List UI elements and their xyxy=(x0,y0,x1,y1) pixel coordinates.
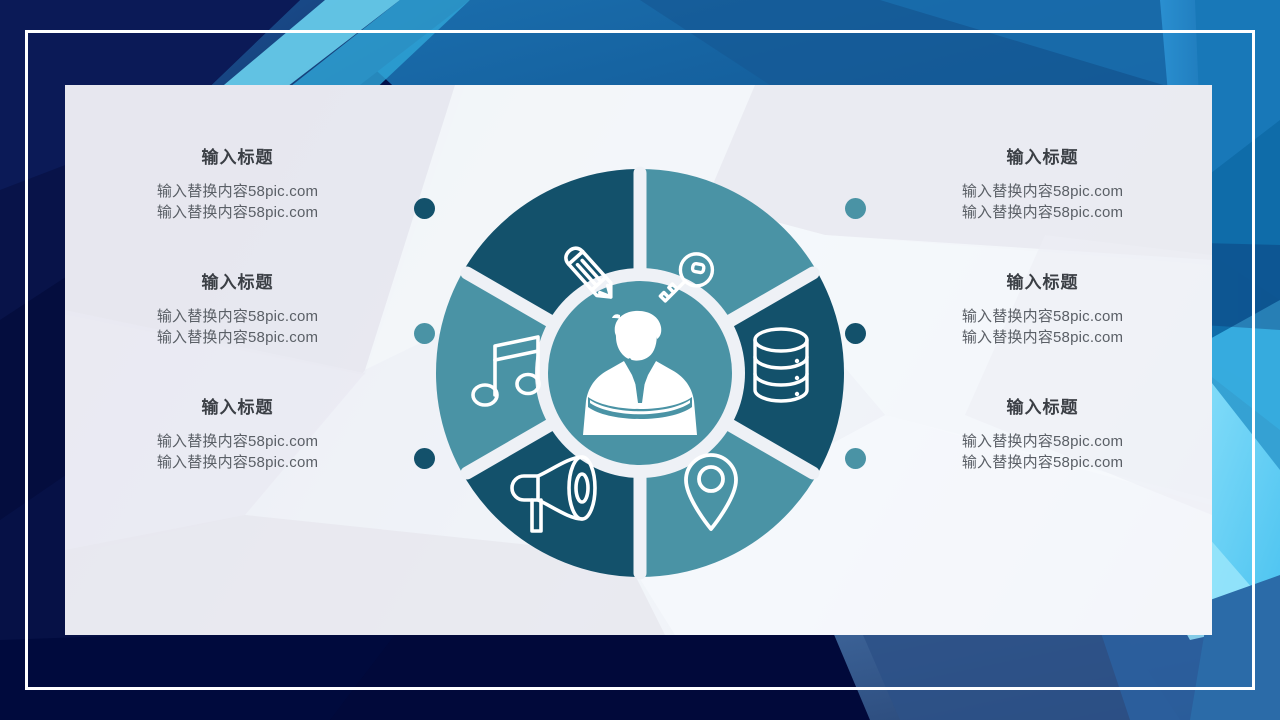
bullet-dot xyxy=(414,198,435,219)
bullet-dot xyxy=(845,198,866,219)
bullet-dot xyxy=(414,448,435,469)
item-body-line: 输入替换内容58pic.com xyxy=(65,431,410,452)
bullet-dot xyxy=(845,448,866,469)
item-title: 输入标题 xyxy=(870,148,1215,168)
item-body: 输入替换内容58pic.com 输入替换内容58pic.com xyxy=(65,181,410,223)
item-body-line: 输入替换内容58pic.com xyxy=(65,327,410,348)
item-body-line: 输入替换内容58pic.com xyxy=(870,327,1215,348)
segmented-wheel-diagram xyxy=(432,165,848,581)
item-body: 输入替换内容58pic.com 输入替换内容58pic.com xyxy=(870,431,1215,473)
list-item[interactable]: 输入标题 输入替换内容58pic.com 输入替换内容58pic.com xyxy=(870,273,1215,398)
item-body: 输入替换内容58pic.com 输入替换内容58pic.com xyxy=(65,306,410,348)
item-body-line: 输入替换内容58pic.com xyxy=(870,181,1215,202)
list-item[interactable]: 输入标题 输入替换内容58pic.com 输入替换内容58pic.com xyxy=(65,148,410,273)
item-title: 输入标题 xyxy=(870,398,1215,418)
item-body-line: 输入替换内容58pic.com xyxy=(870,452,1215,473)
bullet-dot xyxy=(845,323,866,344)
right-items-column: 输入标题 输入替换内容58pic.com 输入替换内容58pic.com 输入标… xyxy=(870,148,1215,523)
item-title: 输入标题 xyxy=(65,273,410,293)
item-body-line: 输入替换内容58pic.com xyxy=(65,452,410,473)
left-items-column: 输入标题 输入替换内容58pic.com 输入替换内容58pic.com 输入标… xyxy=(65,148,410,523)
item-title: 输入标题 xyxy=(65,148,410,168)
bullet-dot xyxy=(414,323,435,344)
slide-canvas: 输入标题 输入替换内容58pic.com 输入替换内容58pic.com 输入标… xyxy=(0,0,1280,720)
item-body-line: 输入替换内容58pic.com xyxy=(65,181,410,202)
item-title: 输入标题 xyxy=(870,273,1215,293)
item-body: 输入替换内容58pic.com 输入替换内容58pic.com xyxy=(65,431,410,473)
list-item[interactable]: 输入标题 输入替换内容58pic.com 输入替换内容58pic.com xyxy=(65,273,410,398)
item-body-line: 输入替换内容58pic.com xyxy=(870,431,1215,452)
item-body: 输入替换内容58pic.com 输入替换内容58pic.com xyxy=(870,181,1215,223)
list-item[interactable]: 输入标题 输入替换内容58pic.com 输入替换内容58pic.com xyxy=(65,398,410,523)
item-body-line: 输入替换内容58pic.com xyxy=(65,306,410,327)
item-body-line: 输入替换内容58pic.com xyxy=(65,202,410,223)
item-body: 输入替换内容58pic.com 输入替换内容58pic.com xyxy=(870,306,1215,348)
item-body-line: 输入替换内容58pic.com xyxy=(870,202,1215,223)
list-item[interactable]: 输入标题 输入替换内容58pic.com 输入替换内容58pic.com xyxy=(870,398,1215,523)
list-item[interactable]: 输入标题 输入替换内容58pic.com 输入替换内容58pic.com xyxy=(870,148,1215,273)
item-title: 输入标题 xyxy=(65,398,410,418)
item-body-line: 输入替换内容58pic.com xyxy=(870,306,1215,327)
